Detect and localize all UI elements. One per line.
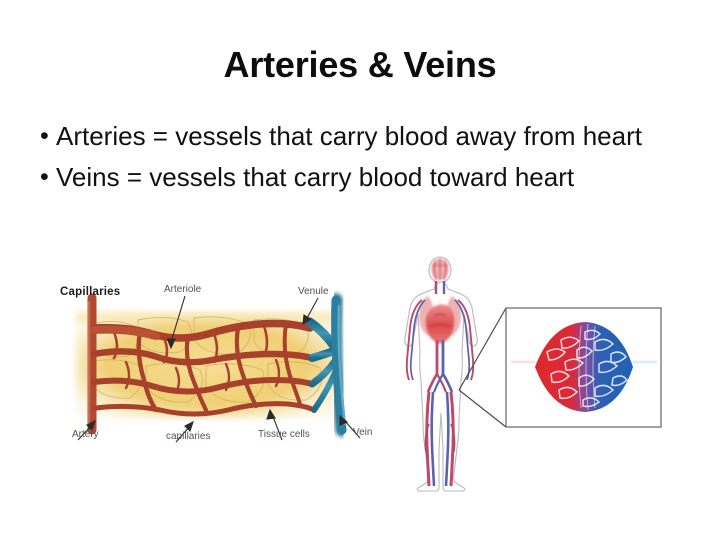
bullet-marker-icon: • (34, 161, 56, 194)
capillary-bed-illustration: Capillaries Arteriole Venule Artery capi… (48, 262, 388, 472)
head-vessels (431, 258, 449, 280)
label-artery: Artery (72, 429, 99, 440)
slide-canvas: Arteries & Veins • Arteries = vessels th… (0, 0, 720, 539)
label-arteriole: Arteriole (164, 284, 201, 295)
bullet-text: Veins = vessels that carry blood toward … (56, 161, 684, 194)
bullet-list: • Arteries = vessels that carry blood aw… (34, 120, 684, 202)
list-item: • Veins = vessels that carry blood towar… (34, 161, 684, 194)
label-capillaries-title: Capillaries (60, 286, 120, 298)
bullet-text: Arteries = vessels that carry blood away… (56, 120, 684, 153)
bullet-marker-icon: • (34, 120, 56, 153)
callout-lines (459, 308, 506, 427)
label-capillaries-lower: capillaries (166, 431, 210, 442)
list-item: • Arteries = vessels that carry blood aw… (34, 120, 684, 153)
magnification-graphic (455, 300, 670, 435)
label-vein: Vein (353, 427, 372, 438)
page-title: Arteries & Veins (0, 44, 720, 86)
capillary-magnification-callout (455, 300, 670, 435)
label-tissue-cells: Tissue cells (258, 429, 310, 440)
label-venule: Venule (298, 286, 329, 297)
vein-vessel (336, 300, 345, 430)
artery-vessel (89, 298, 92, 430)
